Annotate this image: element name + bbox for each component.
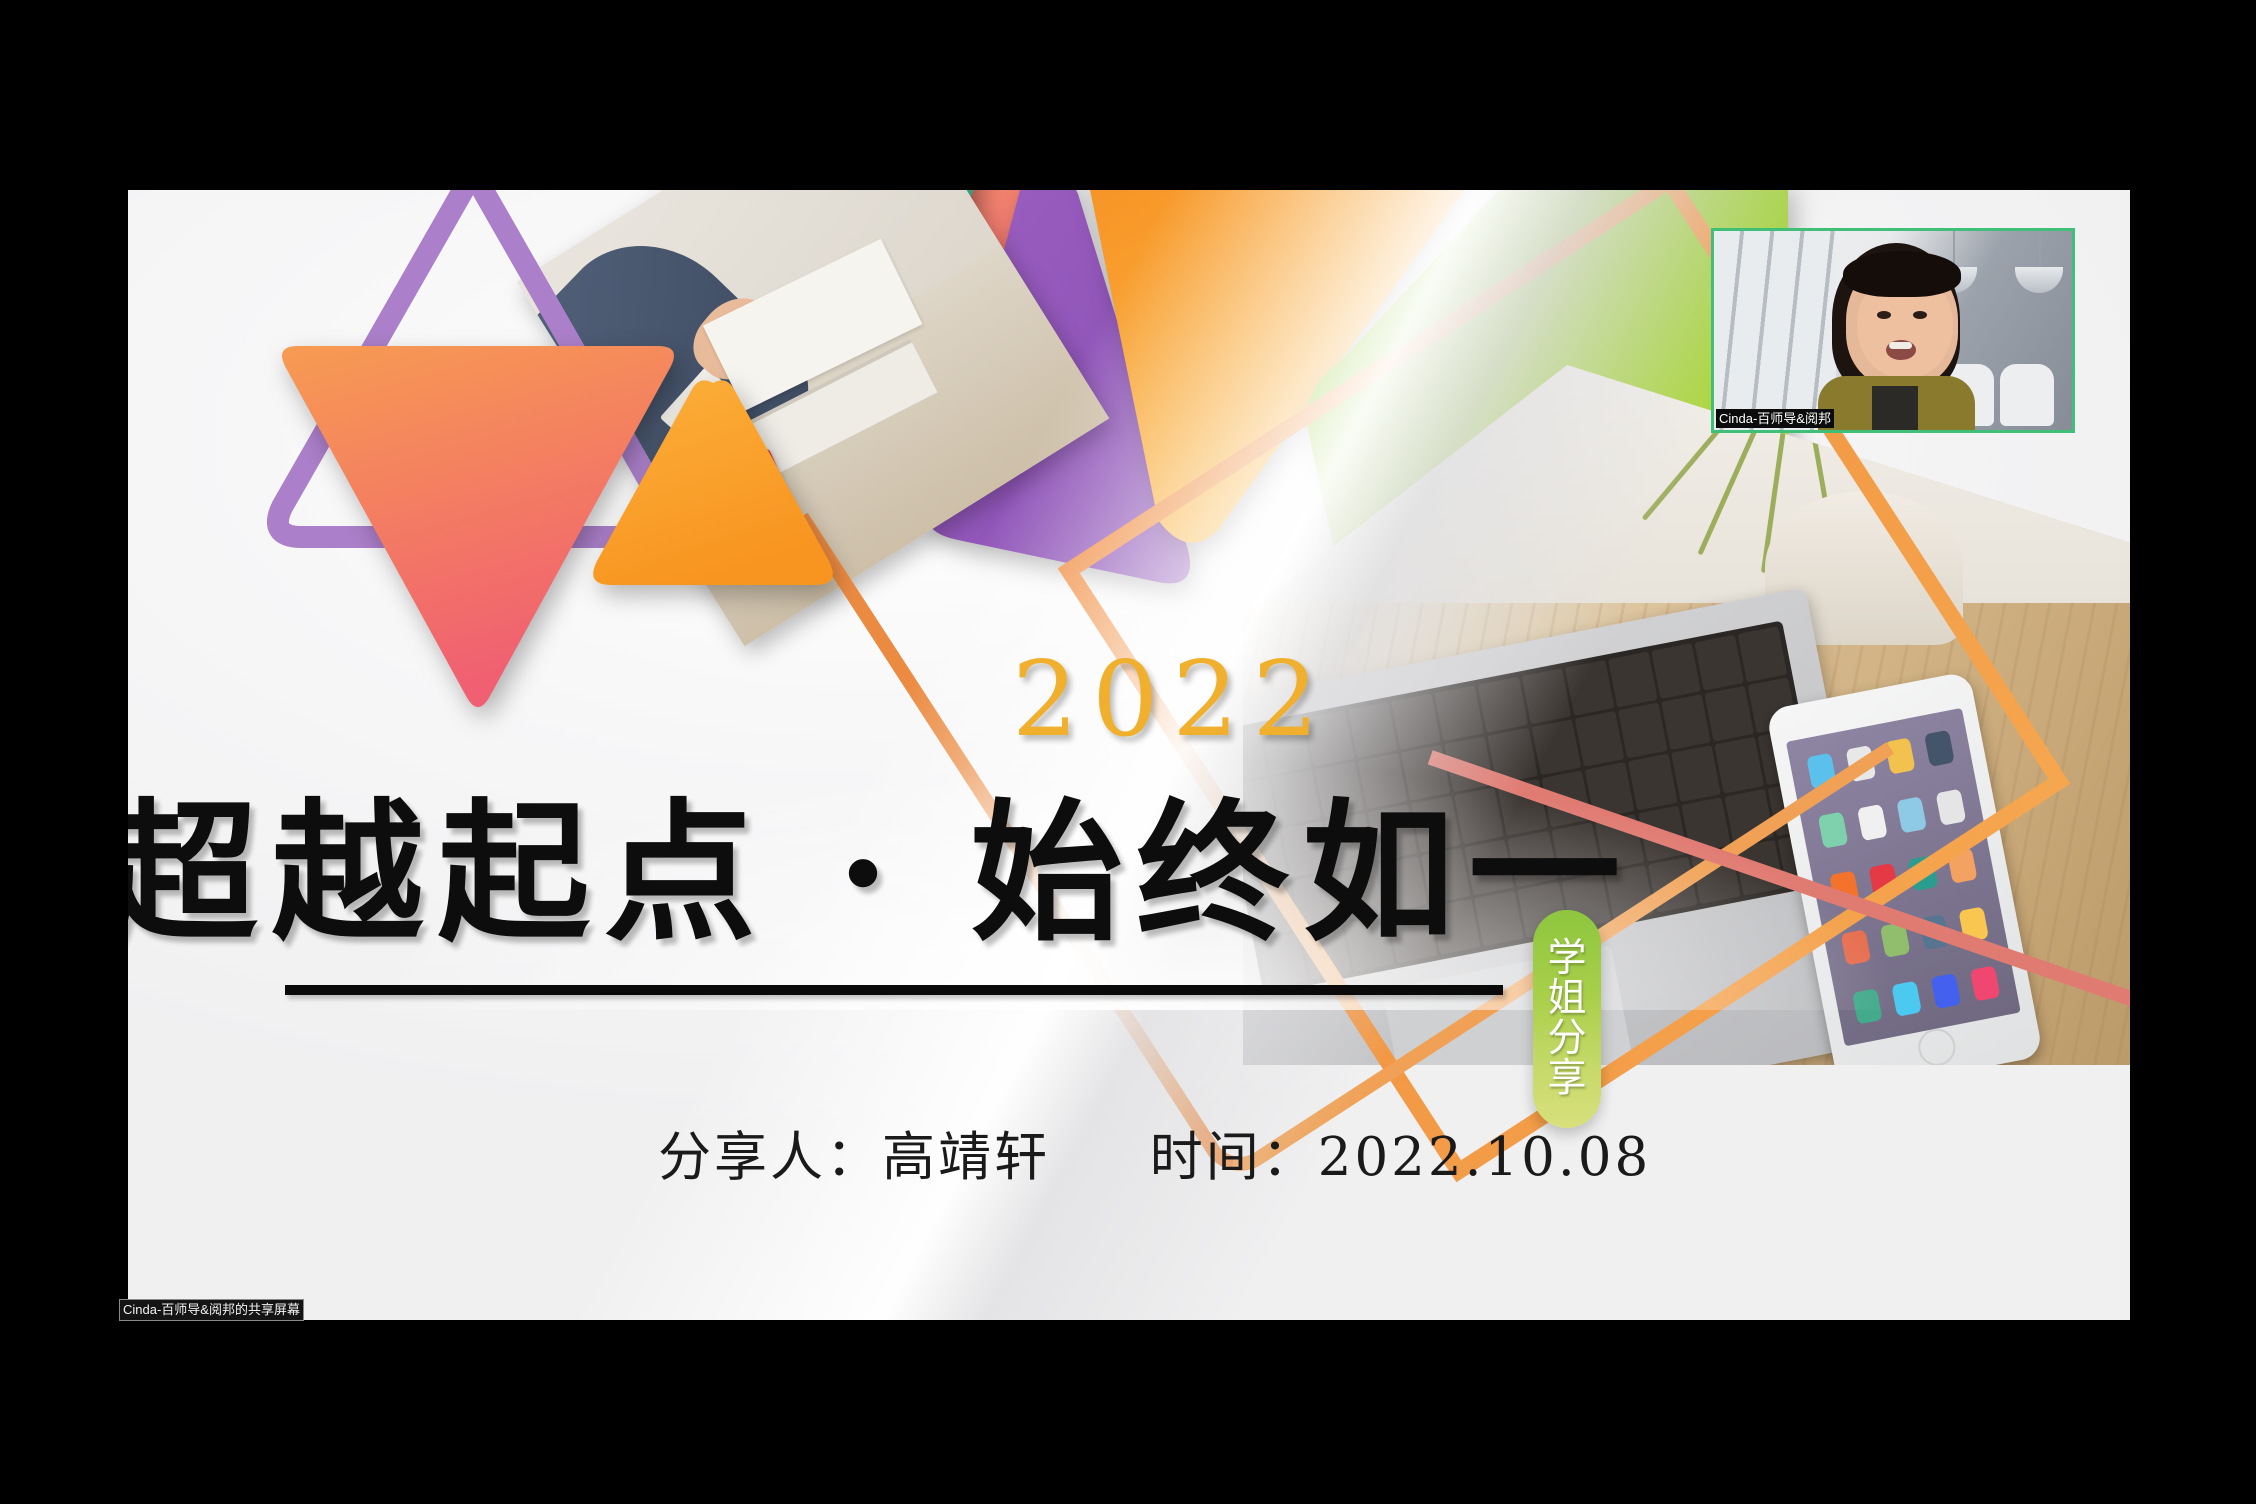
badge-char-2: 姐 [1547,980,1586,1018]
title-underline-rule [285,985,1503,995]
webcam-pip[interactable]: Cinda-百师导&阅邦 [1711,228,2075,433]
badge-char-3: 分 [1547,1020,1586,1058]
screen-share-viewport: 2022 超越起点 · 始终如一 分享人：高靖轩 时间：2022.10.08 学… [0,0,2256,1504]
vertical-badge: 学 姐 分 享 [1533,910,1601,1128]
participant-eye [1877,311,1891,319]
chair-shape [2000,364,2054,426]
participant-fringe [1843,251,1961,297]
participant-scarf [1872,386,1919,430]
participant-eye [1913,311,1927,319]
slide-title: 超越起点 · 始终如一 [128,750,1650,970]
byline: 分享人：高靖轩 时间：2022.10.08 [658,1115,1651,1191]
badge-char-4: 享 [1547,1060,1586,1098]
byline-date: 时间：2022.10.08 [1150,1127,1651,1188]
byline-presenter: 分享人：高靖轩 [658,1127,1050,1188]
orange-small-triangle [593,375,833,590]
shared-screen-label: Cinda-百师导&阅邦的共享屏幕 [119,1299,304,1321]
badge-char-1: 学 [1547,940,1586,978]
webcam-name-label: Cinda-百师导&阅邦 [1716,409,1834,428]
year-label: 2022 [1012,638,1333,760]
